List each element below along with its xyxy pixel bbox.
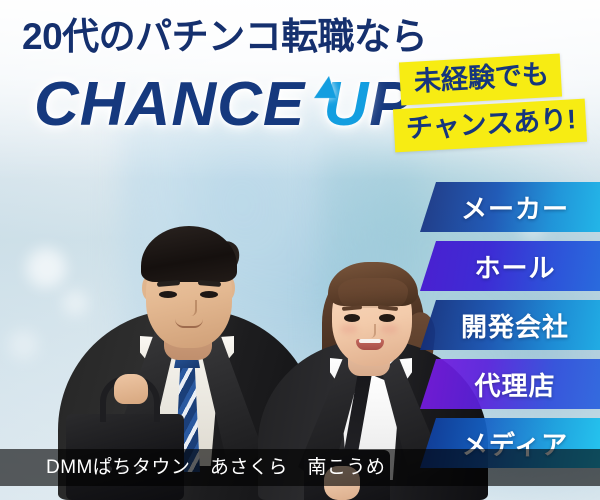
category-button-agency[interactable]: 代理店 xyxy=(420,359,600,409)
category-label-maker: メーカー xyxy=(451,189,569,226)
badge-no-experience: 未経験でも xyxy=(399,54,562,106)
headline-logo-chance: CHANCE xyxy=(34,70,323,139)
woman-bangs xyxy=(338,278,408,308)
category-list: メーカー ホール 開発会社 代理店 メディア xyxy=(420,182,600,477)
man-eye-left xyxy=(159,291,177,298)
woman-teeth xyxy=(359,339,381,343)
category-button-hall[interactable]: ホール xyxy=(420,241,600,291)
headline-primary: 20代のパチンコ転職なら xyxy=(22,18,427,55)
category-button-maker[interactable]: メーカー xyxy=(420,182,600,232)
man-hand xyxy=(114,374,148,404)
woman-cheek-left xyxy=(340,324,358,334)
category-label-developer: 開発会社 xyxy=(451,307,569,344)
man-hair xyxy=(141,226,237,282)
woman-eye-right xyxy=(379,314,395,322)
man-nose xyxy=(185,300,197,316)
category-button-developer[interactable]: 開発会社 xyxy=(420,300,600,350)
woman-nose xyxy=(366,324,376,338)
arrow-up-icon xyxy=(314,76,340,98)
headline-logo: CHANCE UP xyxy=(34,74,412,136)
woman-cheek-right xyxy=(380,324,398,334)
caption-credits: DMMぱちタウン あさくら 南こうめ xyxy=(46,456,385,479)
man-eye-right xyxy=(200,291,218,298)
category-label-hall: ホール xyxy=(464,248,555,285)
advertisement-banner[interactable]: 20代のパチンコ転職なら CHANCE UP 未経験でも チャンスあり! メーカ… xyxy=(0,0,600,500)
woman-eye-left xyxy=(344,314,360,322)
category-label-agency: 代理店 xyxy=(464,366,555,403)
